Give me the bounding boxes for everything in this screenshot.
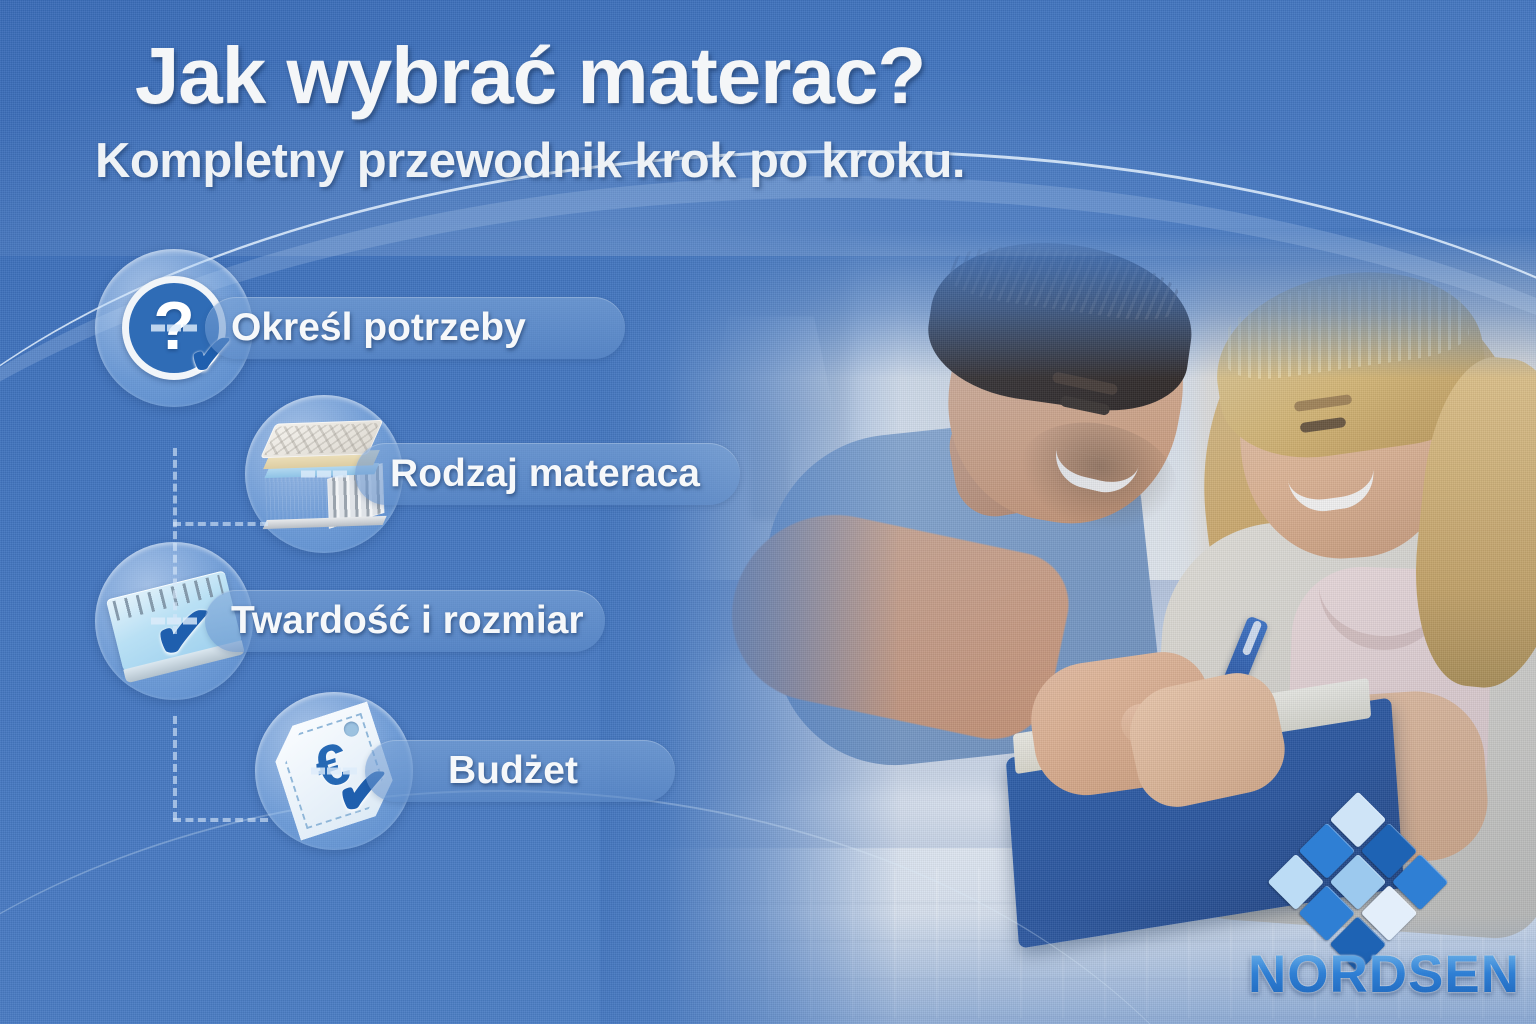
check-icon: ✔ — [153, 596, 215, 670]
step-item-3[interactable]: ✔ Twardość i rozmiar — [95, 590, 605, 652]
header: Jak wybrać materac? Kompletny przewodnik… — [0, 34, 1060, 189]
step-label-4: Budżet — [448, 749, 578, 793]
connector-vertical — [173, 716, 177, 820]
dashed-connector — [151, 618, 197, 625]
mattress-side-panel — [265, 474, 331, 524]
step-item-4[interactable]: € ✔ Budżet — [255, 740, 675, 802]
nordsen-logo[interactable]: NORDSEN — [1248, 818, 1518, 1016]
infographic-poster: Jak wybrać materac? Kompletny przewodnik… — [0, 0, 1536, 1024]
step-label-2: Rodzaj materaca — [390, 452, 700, 496]
connector-branch-step4 — [173, 818, 268, 822]
step-label-pill-3[interactable]: Twardość i rozmiar — [205, 590, 605, 652]
page-title: Jak wybrać materac? — [0, 34, 1060, 117]
dashed-connector — [311, 768, 357, 775]
step-label-3: Twardość i rozmiar — [231, 599, 584, 643]
logo-wordmark: NORDSEN — [1248, 944, 1518, 1005]
step-label-1: Określ potrzeby — [231, 306, 526, 350]
page-subtitle: Kompletny przewodnik krok po kroku. — [0, 133, 1060, 189]
step-label-pill-1[interactable]: Określ potrzeby — [205, 297, 625, 359]
dashed-connector — [301, 471, 347, 478]
connector-branch-step2 — [173, 522, 268, 526]
step-label-pill-4[interactable]: Budżet — [365, 740, 675, 802]
step-label-pill-2[interactable]: Rodzaj materaca — [355, 443, 740, 505]
step-item-2[interactable]: Rodzaj materaca — [245, 443, 740, 505]
step-item-1[interactable]: ? ✔ Określ potrzeby — [95, 297, 625, 359]
dashed-connector — [151, 325, 197, 332]
